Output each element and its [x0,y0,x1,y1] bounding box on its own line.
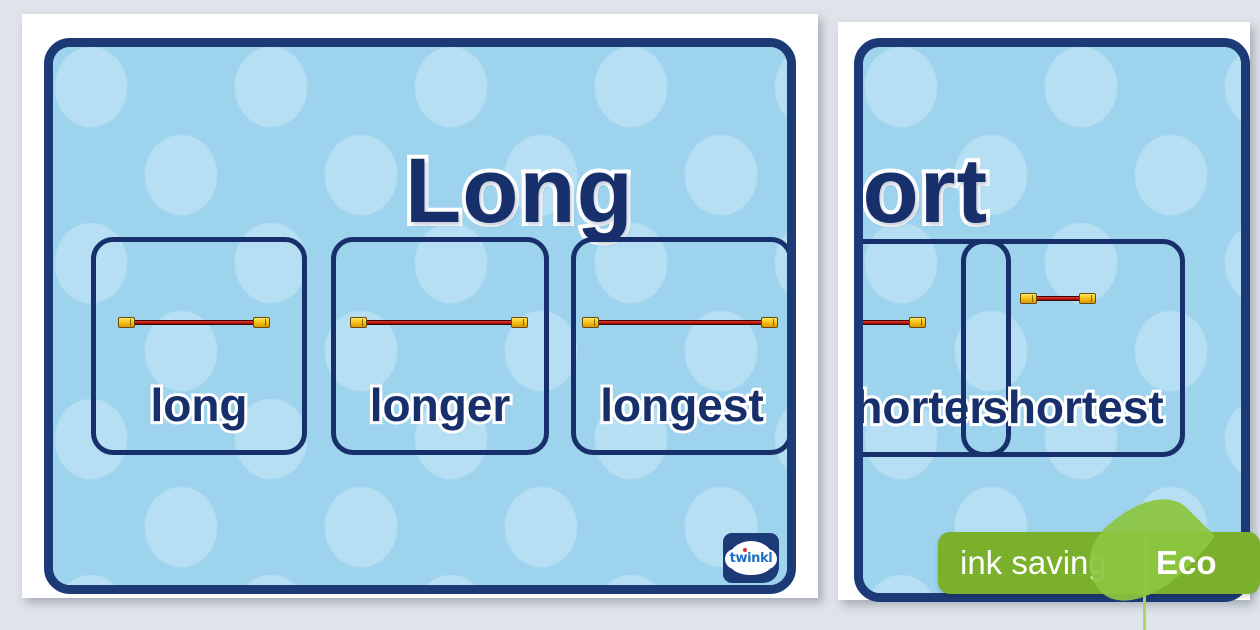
skipping-rope-longest [582,316,778,328]
rope-handle-right-icon [253,317,270,328]
skipping-rope-long [118,316,270,328]
rope-cord [1037,296,1079,301]
poster-title-long: Long [405,145,634,237]
word-card-long[interactable]: long [91,237,307,455]
skipping-rope-shorter [854,316,926,328]
skipping-rope-shortest [1020,292,1096,304]
skipping-rope-longer [350,316,528,328]
twinkl-logo: twinkl [723,533,779,583]
word-card-long-label: long [96,382,302,428]
eco-badge-label: ink saving [960,532,1107,594]
eco-badge-emphasis: Eco [1156,532,1217,594]
twinkl-wordmark: twinkl [730,551,773,566]
rope-handle-right-icon [511,317,528,328]
twinkl-dot-icon [743,548,747,552]
rope-handle-left-icon [118,317,135,328]
word-card-longest-label: longest [576,382,788,428]
rope-cord [854,320,909,325]
rope-cord [599,320,761,325]
word-card-longer[interactable]: longer [331,237,549,455]
rope-handle-left-icon [350,317,367,328]
ink-saving-eco-badge: ink saving Eco [938,532,1260,594]
word-card-longest-body: longest [576,242,788,450]
word-card-longer-body: longer [336,242,544,450]
rope-handle-left-icon [582,317,599,328]
poster-long: Long long longer [44,38,796,594]
rope-handle-left-icon [1020,293,1037,304]
rope-cord [135,320,253,325]
poster-stage: Short shorter shortest [0,0,1260,630]
word-card-shortest-label: shortest [966,384,1180,430]
cloud-icon: twinkl [728,541,774,575]
rope-handle-right-icon [1079,293,1096,304]
word-card-long-body: long [96,242,302,450]
rope-cord [367,320,511,325]
rope-handle-right-icon [761,317,778,328]
poster-title-short: Short [854,145,988,237]
word-card-shortest-body: shortest [966,244,1180,452]
word-card-shortest[interactable]: shortest [961,239,1185,457]
word-card-longer-label: longer [336,382,544,428]
word-card-longest[interactable]: longest [571,237,793,455]
rope-handle-right-icon [909,317,926,328]
